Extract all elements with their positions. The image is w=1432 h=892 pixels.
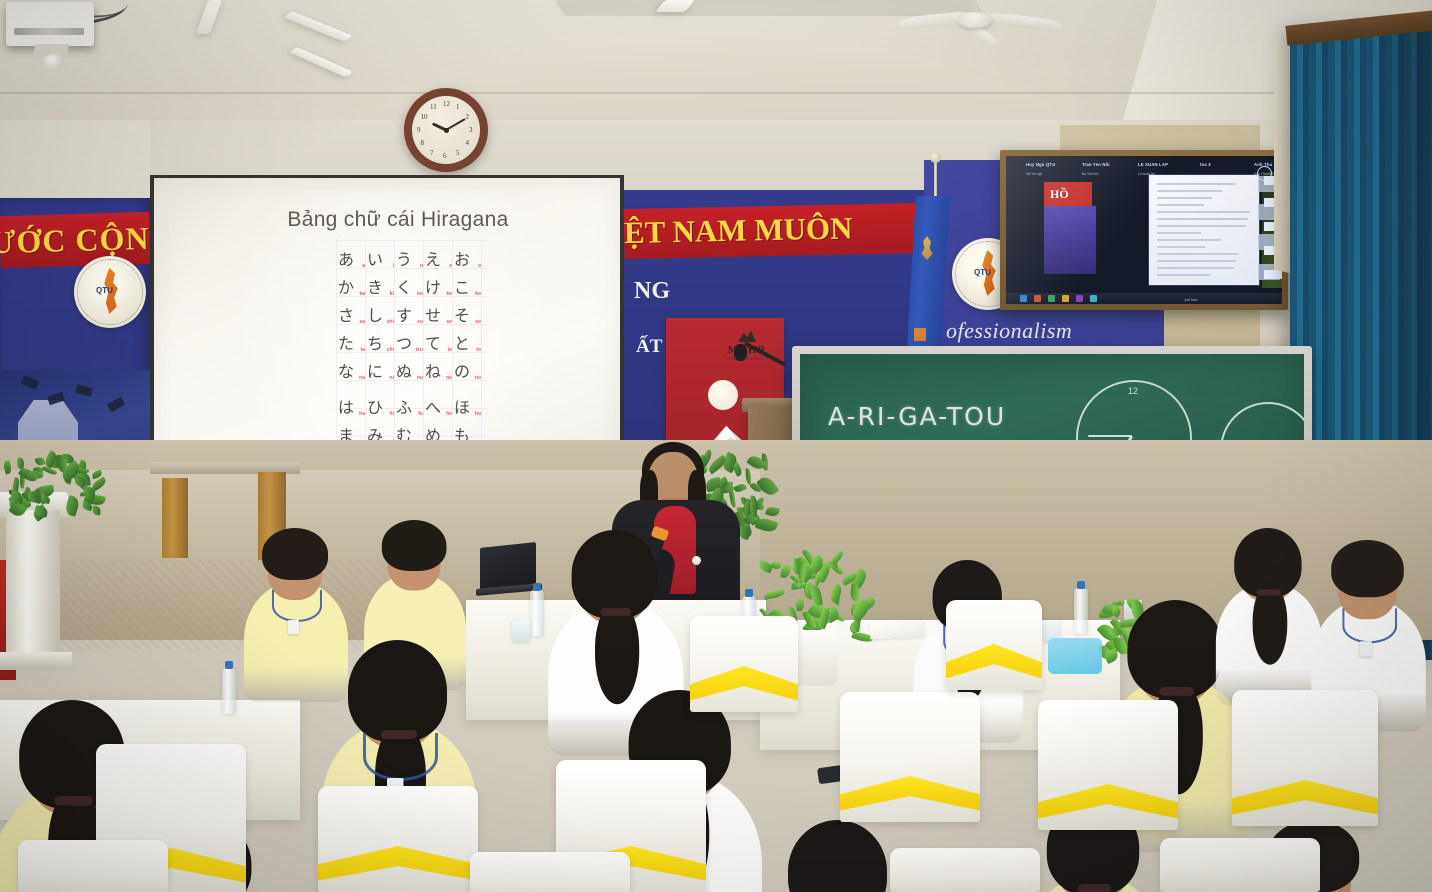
plant-leaf <box>745 468 751 484</box>
hiragana-character: と <box>454 334 470 353</box>
hiragana-cell: おo <box>454 252 483 270</box>
hair-tie <box>600 608 631 616</box>
hair-tie <box>54 796 92 806</box>
water-bottle <box>530 590 544 636</box>
wall-clock-center-pin <box>444 128 449 133</box>
hiragana-cell: けke <box>425 280 454 298</box>
laptop-screen[interactable] <box>480 542 536 590</box>
hiragana-romaji: ko <box>475 291 481 297</box>
clock-numeral: 9 <box>417 126 421 134</box>
hiragana-cell: くku <box>396 280 425 298</box>
hiragana-character: お <box>454 250 470 269</box>
hiragana-cell: ちchi <box>367 336 396 354</box>
hiragana-cell: のno <box>454 364 483 382</box>
hiragana-romaji: he <box>446 411 452 417</box>
audience-hair <box>788 820 887 892</box>
moon-icon <box>708 380 738 410</box>
mchr-mountain-icon <box>738 330 756 342</box>
plant-leaf <box>28 492 38 503</box>
slide-title: Bảng chữ cái Hiragana <box>238 208 558 232</box>
hiragana-romaji: fu <box>418 411 423 417</box>
hiragana-romaji: i <box>393 263 394 269</box>
plant-leaf <box>763 589 785 600</box>
tv-column-sub: Le xuan lap <box>1138 172 1155 176</box>
hiragana-cell: たta <box>338 336 367 354</box>
hiragana-row: さsaしshiすsuせseそso <box>338 298 486 326</box>
projector-lens-icon <box>43 54 64 69</box>
hiragana-romaji: ki <box>390 291 394 297</box>
graduation-cap-icon <box>75 384 93 397</box>
clock-numeral: 2 <box>466 113 470 121</box>
hiragana-character: ち <box>367 334 383 353</box>
hiragana-cell: すsu <box>396 308 425 326</box>
lanyard <box>1342 608 1397 643</box>
hiragana-character: う <box>396 250 412 269</box>
hiragana-cell: ねne <box>425 364 454 382</box>
hiragana-character: な <box>338 362 354 381</box>
hiragana-character: き <box>367 278 383 297</box>
hiragana-character: た <box>338 334 354 353</box>
clock-numeral: 12 <box>443 100 450 108</box>
plant-leaf <box>796 598 805 610</box>
left-banner-text: ƯỚC CỘN <box>0 220 160 262</box>
hiragana-romaji: no <box>475 375 481 381</box>
blue-cloth-item <box>1048 638 1102 674</box>
hiragana-character: つ <box>396 334 412 353</box>
chair-with-cover <box>890 848 1040 892</box>
hiragana-romaji: se <box>446 319 452 325</box>
chair-with-cover <box>1160 838 1320 892</box>
tv-column-header: LE XUAN LAP <box>1138 162 1168 167</box>
hiragana-romaji: ni <box>390 375 394 381</box>
water-bottle <box>1074 588 1088 634</box>
tv-bar <box>1264 270 1282 279</box>
microphone-head-icon <box>734 344 747 361</box>
clock-numeral: 6 <box>443 152 447 160</box>
graduation-cap-icon <box>21 375 39 389</box>
hiragana-cell: なna <box>338 364 367 382</box>
ceiling-seam <box>0 92 1432 94</box>
tv-taskbar-time: Just Now <box>1184 298 1198 302</box>
hiragana-romaji: ku <box>417 291 423 297</box>
hiragana-row: たtaちchiつtsuてteとto <box>338 326 486 354</box>
plant-leaf <box>3 461 13 475</box>
hiragana-romaji: tsu <box>416 347 424 353</box>
chair-with-cover <box>690 616 798 712</box>
drinking-glass <box>512 620 530 642</box>
chair-with-cover <box>470 852 630 892</box>
center-banner-subtext: NG <box>634 278 670 305</box>
tv-column-header: Tran Yen Nhi <box>1082 162 1110 167</box>
hiragana-cell: そso <box>454 308 483 326</box>
hiragana-romaji: su <box>417 319 423 325</box>
hiragana-cell: ひhi <box>367 400 396 418</box>
qtu-logo-left: QTU <box>74 256 146 328</box>
hiragana-character: ほ <box>454 398 470 417</box>
hiragana-cell: きki <box>367 280 396 298</box>
hiragana-character: せ <box>425 306 441 325</box>
hiragana-romaji: te <box>448 347 452 353</box>
ceiling-fan-hub <box>958 12 992 28</box>
id-badge <box>1360 641 1372 656</box>
wooden-pillar <box>162 478 188 558</box>
hiragana-row: はhaひhiふfuへheほho <box>338 390 486 418</box>
lanyard <box>363 733 438 781</box>
hiragana-romaji: chi <box>387 347 394 353</box>
qtu-logo-text: QTU <box>96 286 113 295</box>
hiragana-cell: つtsu <box>396 336 425 354</box>
hiragana-character: の <box>454 362 470 381</box>
hiragana-cell: とto <box>454 336 483 354</box>
ceiling-projector <box>6 2 94 46</box>
hiragana-cell: さsa <box>338 308 367 326</box>
ceiling-seam-diagonal <box>555 0 984 16</box>
plant-leaf <box>35 456 46 467</box>
plant-leaf <box>734 482 747 493</box>
planter-column-base <box>0 652 72 670</box>
hiragana-cell: ぬnu <box>396 364 425 382</box>
hiragana-character: ふ <box>396 398 412 417</box>
plant-leaf <box>850 583 861 600</box>
qtu-logo-text: QTU <box>974 268 991 277</box>
hiragana-character: て <box>425 334 441 353</box>
graduation-cap-icon <box>107 397 125 413</box>
hiragana-row: かkaきkiくkuけkeこko <box>338 270 486 298</box>
hiragana-cell: かka <box>338 280 367 298</box>
hiragana-cell: にni <box>367 364 396 382</box>
hiragana-cell: せse <box>425 308 454 326</box>
chalk-clock-numeral: 12 <box>1128 386 1138 396</box>
tv-column-sub: Tat Yen gia <box>1026 172 1042 176</box>
hiragana-character: さ <box>338 306 354 325</box>
hiragana-romaji: na <box>359 375 365 381</box>
hiragana-cell: ほho <box>454 400 483 418</box>
chair-with-cover <box>18 840 168 892</box>
tv-glare <box>1006 156 1197 304</box>
hiragana-cell: しshi <box>367 308 396 326</box>
professionalism-script-text: ofessionalism <box>946 318 1072 344</box>
graduation-cap-icon <box>47 392 65 406</box>
hiragana-character: に <box>367 362 383 381</box>
clock-numeral: 4 <box>466 139 470 147</box>
chalk-clock-hand <box>1088 435 1132 437</box>
wall-mounted-tv-screen[interactable]: HỒ Just Now Huy Ngo QTUTat Yen giaTran Y… <box>1006 156 1282 304</box>
center-banner-text: ỆT NAM MUÔN <box>624 209 925 251</box>
hiragana-cell: ふfu <box>396 400 425 418</box>
hiragana-cell: あa <box>338 252 367 270</box>
paper-sheet <box>870 621 925 640</box>
audience-hair <box>382 520 447 571</box>
hiragana-cell: えe <box>425 252 454 270</box>
poster-side-text: ẤT <box>636 336 662 358</box>
hiragana-romaji: sa <box>359 319 365 325</box>
floor-texture <box>0 560 420 650</box>
hiragana-romaji: hi <box>390 411 394 417</box>
plant-leaf <box>828 561 838 568</box>
hiragana-romaji: u <box>420 263 423 269</box>
lanyard <box>272 590 322 622</box>
hiragana-romaji: ne <box>446 375 452 381</box>
clock-numeral: 8 <box>420 139 424 147</box>
presenter-lapel-pin <box>692 556 701 565</box>
plant-leaf <box>828 583 844 604</box>
audience-hair <box>1331 540 1404 597</box>
hiragana-romaji: ho <box>475 411 481 417</box>
hiragana-cell: いi <box>367 252 396 270</box>
clock-numeral: 10 <box>420 113 427 121</box>
hiragana-character: え <box>425 250 441 269</box>
audience-hair <box>262 528 328 580</box>
hiragana-cell: てte <box>425 336 454 354</box>
tv-column-sub: Ba Yen Nhi <box>1082 172 1098 176</box>
tv-column-header: Huy Ngo QTU <box>1026 162 1055 167</box>
audience-ponytail <box>595 603 639 704</box>
flag-orange-badge <box>914 328 926 341</box>
mchr-brand-subtext: HUMAN RESOURCE <box>722 356 772 361</box>
hiragana-character: へ <box>425 398 441 417</box>
hair-tie <box>1159 687 1194 696</box>
clock-numeral: 1 <box>456 103 460 111</box>
hair-tie <box>1257 589 1281 595</box>
hiragana-cell: うu <box>396 252 425 270</box>
clock-numeral: 5 <box>456 149 460 157</box>
hiragana-character: け <box>425 278 441 297</box>
hiragana-character: あ <box>338 250 354 269</box>
hiragana-romaji: ka <box>359 291 365 297</box>
plant-leaf <box>732 462 744 477</box>
planter-column <box>6 510 60 660</box>
decorative-plant <box>0 452 96 512</box>
hiragana-romaji: to <box>476 347 481 353</box>
hiragana-character: は <box>338 398 354 417</box>
flag-pole-finial <box>930 152 941 163</box>
hiragana-romaji: nu <box>417 375 423 381</box>
id-badge <box>288 620 299 634</box>
clock-numeral: 7 <box>430 149 434 157</box>
classroom-photo: 121234567891011 ƯỚC CỘN QTU Bảng chữ cái… <box>0 0 1432 892</box>
hiragana-character: こ <box>454 278 470 297</box>
hiragana-row: あaいiうuえeおo <box>338 242 486 270</box>
plant-leaf <box>770 560 782 570</box>
hiragana-cell: こko <box>454 280 483 298</box>
hair-tie <box>1078 884 1112 892</box>
hiragana-character: ひ <box>367 398 383 417</box>
clock-numeral: 3 <box>469 126 473 134</box>
tv-column-header: toa 3 <box>1200 162 1211 167</box>
chalkboard-line-1: A-RI-GA-TOU <box>828 402 1006 431</box>
hiragana-character: い <box>367 250 383 269</box>
hiragana-character: く <box>396 278 412 297</box>
hiragana-romaji: so <box>475 319 481 325</box>
hiragana-row: なnaにniぬnuねneのno <box>338 354 486 382</box>
hiragana-romaji: o <box>478 263 481 269</box>
plant-leaf <box>810 584 823 606</box>
hiragana-romaji: ta <box>361 347 365 353</box>
hiragana-cell: はha <box>338 400 367 418</box>
clock-numeral: 11 <box>430 103 437 111</box>
hiragana-romaji: a <box>362 263 365 269</box>
hiragana-romaji: shi <box>387 319 394 325</box>
hiragana-romaji: e <box>449 263 452 269</box>
audience-ponytail <box>1253 585 1288 665</box>
hiragana-character: そ <box>454 306 470 325</box>
plant-leaf <box>750 495 757 516</box>
hiragana-romaji: ke <box>446 291 452 297</box>
hiragana-character: ぬ <box>396 362 412 381</box>
hiragana-character: し <box>367 306 383 325</box>
hiragana-character: ね <box>425 362 441 381</box>
hiragana-romaji: ha <box>359 411 365 417</box>
hiragana-character: か <box>338 278 354 297</box>
hiragana-character: す <box>396 306 412 325</box>
water-bottle <box>222 668 236 714</box>
hiragana-cell: へhe <box>425 400 454 418</box>
